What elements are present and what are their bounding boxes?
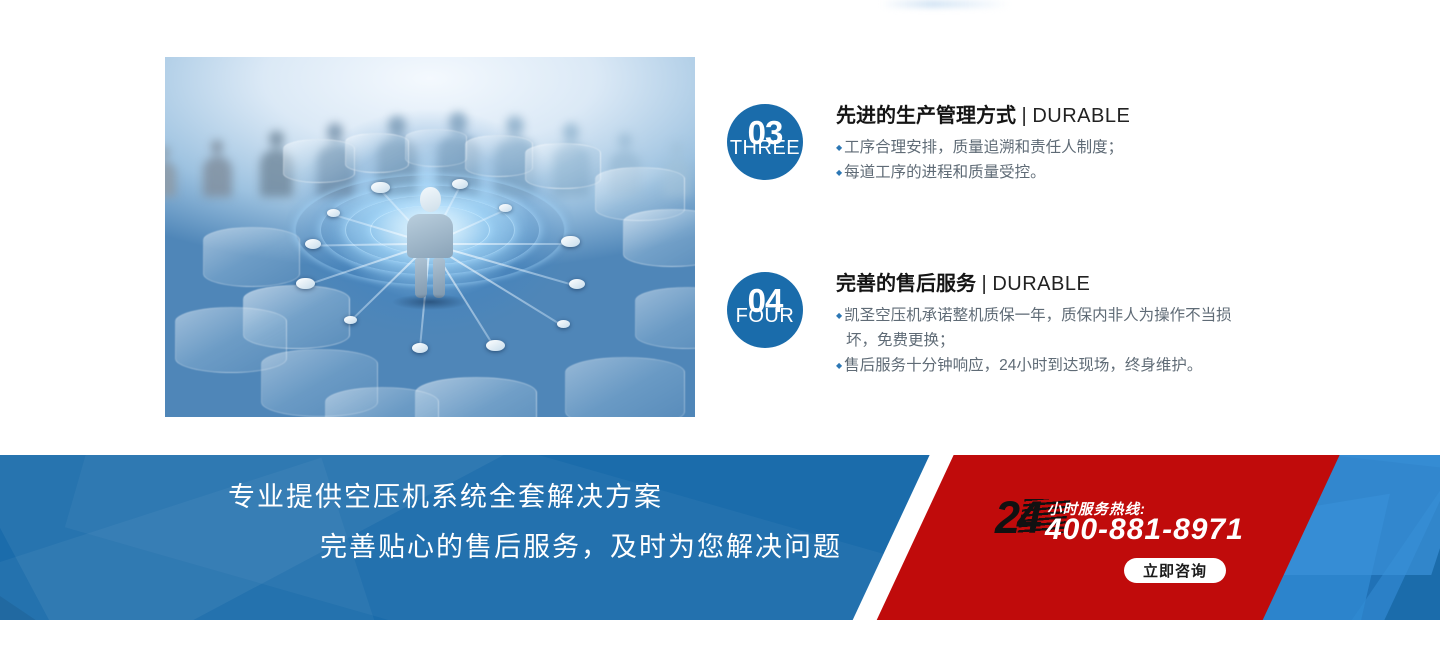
- banner-slogan: 专业提供空压机系统全套解决方案 完善贴心的售后服务，及时为您解决问题: [228, 479, 928, 566]
- feature-bullets-04: 凯圣空压机承诺整机质保一年，质保内非人为操作不当损坏，免费更换； 售后服务十分钟…: [836, 303, 1258, 378]
- feature-title-03: 先进的生产管理方式 | DURABLE: [836, 104, 1130, 129]
- feature-text-03: 先进的生产管理方式 | DURABLE 工序合理安排，质量追溯和责任人制度； 每…: [836, 104, 1130, 185]
- feature-bullet: 凯圣空压机承诺整机质保一年，质保内非人为操作不当损坏，免费更换；: [836, 303, 1258, 353]
- node-cylinder: [345, 133, 409, 173]
- node-cylinder: [325, 387, 439, 417]
- feature-title-en: DURABLE: [992, 273, 1090, 295]
- consult-now-button[interactable]: 立即咨询: [1124, 558, 1226, 583]
- person-legs: [415, 258, 445, 298]
- node-cylinder: [203, 227, 300, 287]
- connector-node: [371, 182, 390, 194]
- upper-content-section: 03 THREE 先进的生产管理方式 | DURABLE 工序合理安排，质量追溯…: [0, 0, 1440, 455]
- connector-node: [569, 279, 585, 289]
- connector-node: [486, 340, 505, 352]
- feature-block-03: 03 THREE 先进的生产管理方式 | DURABLE 工序合理安排，质量追溯…: [727, 104, 1130, 185]
- person-shadow: [392, 294, 468, 310]
- connector-node: [499, 204, 512, 212]
- node-cylinder: [465, 135, 533, 177]
- connector-node: [296, 278, 315, 290]
- person-head: [420, 187, 441, 212]
- hotline-phone-number: 400-881-8971: [1045, 513, 1244, 547]
- connector-node: [305, 239, 321, 249]
- connector-node: [327, 209, 340, 217]
- crowd-person: [165, 146, 176, 197]
- connector-node: [344, 316, 357, 324]
- hours-24-logo: 24: [995, 495, 1039, 540]
- feature-bullet: 售后服务十分钟响应，24小时到达现场，终身维护。: [836, 353, 1258, 378]
- feature-title-04: 完善的售后服务 | DURABLE: [836, 272, 1258, 297]
- node-cylinder: [623, 209, 695, 267]
- feature-badge-03: 03 THREE: [727, 104, 803, 180]
- bottom-cta-banner: 专业提供空压机系统全套解决方案 完善贴心的售后服务，及时为您解决问题 24 小时…: [0, 455, 1440, 620]
- feature-bullet: 工序合理安排，质量追溯和责任人制度；: [836, 135, 1130, 160]
- connector-node: [561, 236, 580, 248]
- node-cylinder: [635, 287, 695, 349]
- feature-title-cn: 先进的生产管理方式: [836, 105, 1016, 127]
- badge-word: THREE: [727, 138, 803, 158]
- feature-badge-04: 04 FOUR: [727, 272, 803, 348]
- feature-bullet: 每道工序的进程和质量受控。: [836, 160, 1130, 185]
- person-body: [407, 214, 453, 258]
- badge-word: FOUR: [727, 306, 803, 326]
- node-cylinder: [405, 129, 467, 167]
- banner-slogan-line-2: 完善贴心的售后服务，及时为您解决问题: [228, 529, 928, 565]
- banner-slogan-line-1: 专业提供空压机系统全套解决方案: [228, 479, 928, 515]
- connector-node: [452, 179, 468, 189]
- network-concept-photo: [165, 57, 695, 417]
- connector-node: [557, 320, 570, 328]
- central-person-icon: [407, 187, 453, 298]
- feature-title-en: DURABLE: [1032, 105, 1130, 127]
- connector-node: [412, 343, 428, 353]
- feature-title-separator: |: [976, 273, 992, 295]
- feature-title-cn: 完善的售后服务: [836, 273, 976, 295]
- feature-text-04: 完善的售后服务 | DURABLE 凯圣空压机承诺整机质保一年，质保内非人为操作…: [836, 272, 1258, 378]
- node-cylinder: [525, 143, 601, 189]
- feature-bullets-03: 工序合理安排，质量追溯和责任人制度； 每道工序的进程和质量受控。: [836, 135, 1130, 185]
- feature-block-04: 04 FOUR 完善的售后服务 | DURABLE 凯圣空压机承诺整机质保一年，…: [727, 272, 1258, 378]
- crowd-person: [203, 140, 232, 197]
- hotline-content: 24 小时服务热线: 400-881-8971 立即咨询: [995, 455, 1295, 620]
- feature-title-separator: |: [1016, 105, 1032, 127]
- node-cylinder: [565, 357, 685, 417]
